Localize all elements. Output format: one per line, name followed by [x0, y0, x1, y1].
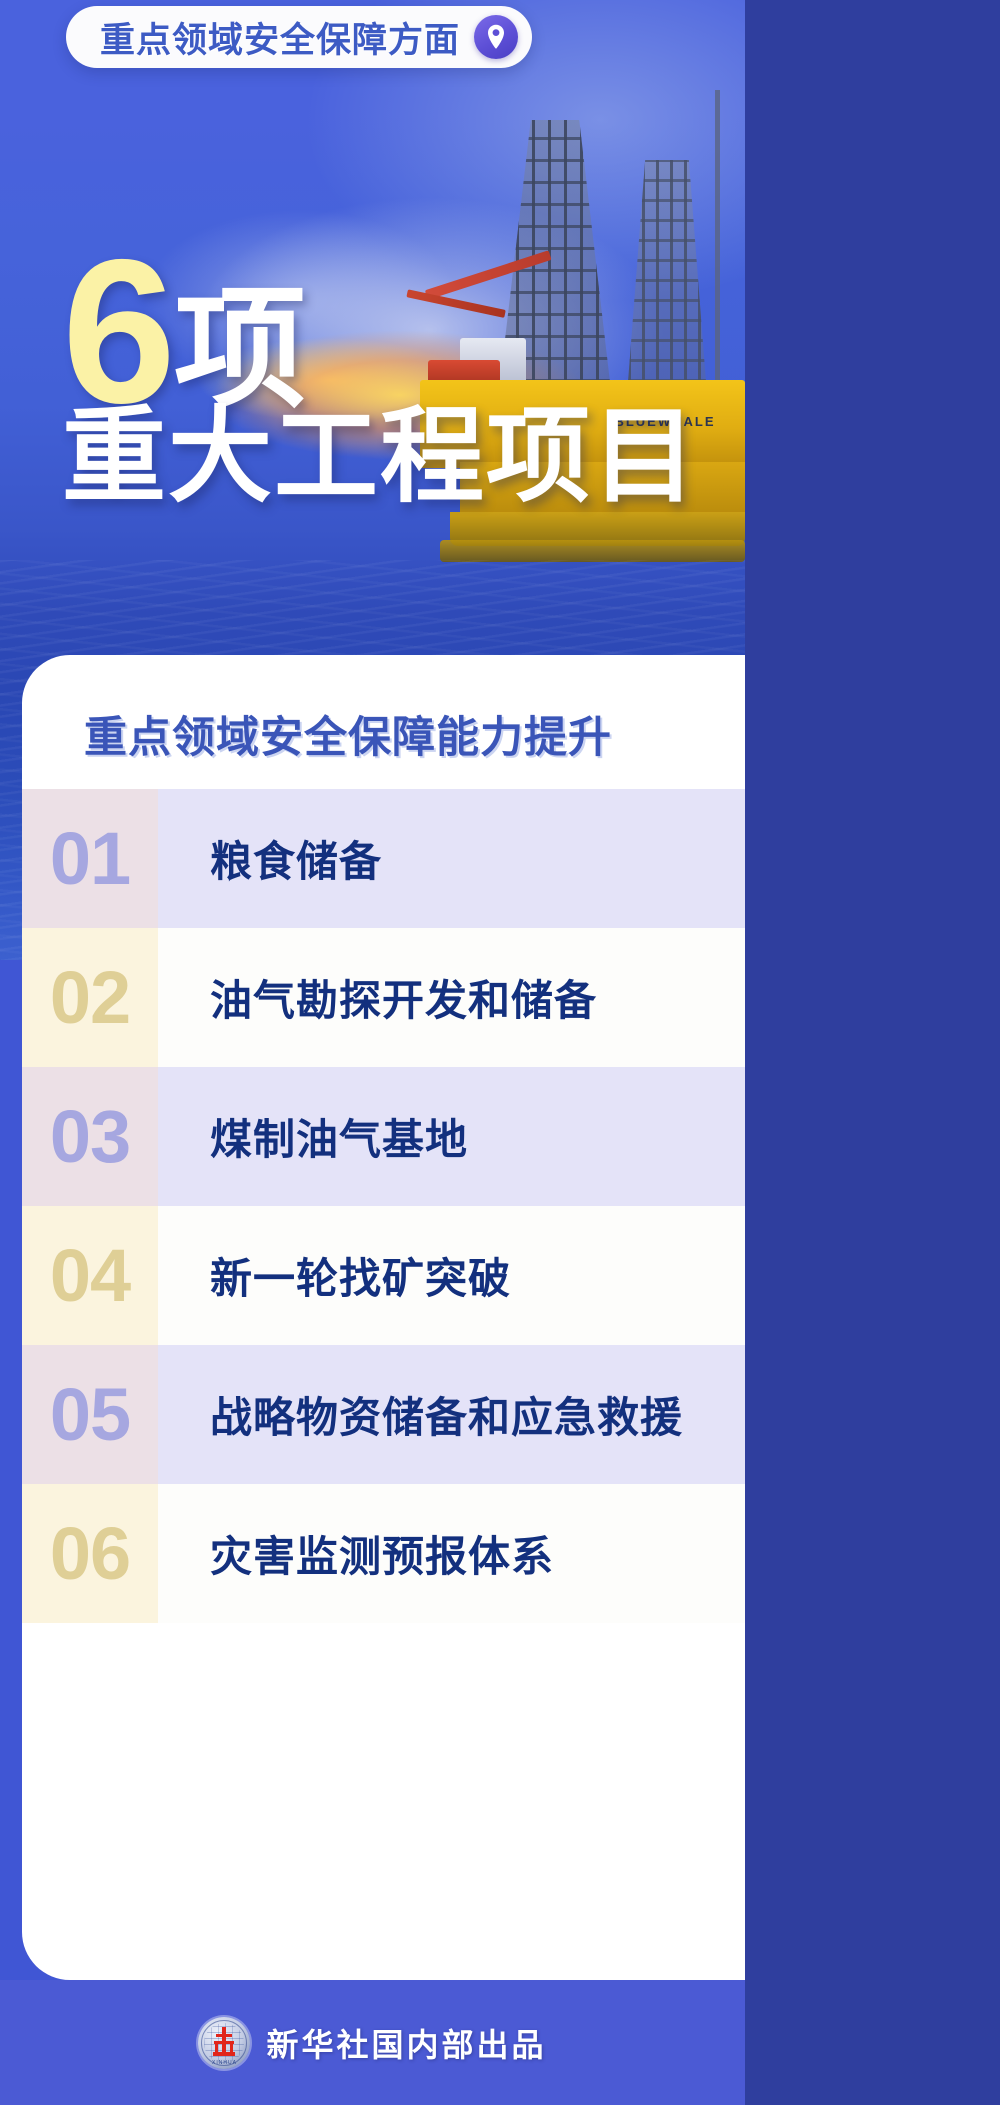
list-item-label: 新一轮找矿突破	[158, 1206, 745, 1345]
list-item-number: 04	[22, 1206, 158, 1345]
list-item-number: 05	[22, 1345, 158, 1484]
list-item[interactable]: 03 煤制油气基地	[22, 1067, 745, 1206]
list-item-label: 煤制油气基地	[158, 1067, 745, 1206]
list-item-label: 战略物资储备和应急救援	[158, 1345, 745, 1484]
footer-credit-text: 新华社国内部出品	[266, 2020, 546, 2066]
list-item[interactable]: 01 粮食储备	[22, 789, 745, 928]
xinhua-agency-logo-icon: XINHUA	[198, 2017, 250, 2069]
content-card: 重点领域安全保障能力提升 01 粮食储备 02 油气勘探开发和储备 03 煤制油…	[22, 655, 745, 1980]
list-item-number: 03	[22, 1067, 158, 1206]
header-pill[interactable]: 重点领域安全保障方面	[66, 6, 532, 68]
mast-icon	[715, 90, 720, 390]
list-item-number: 01	[22, 789, 158, 928]
project-list: 01 粮食储备 02 油气勘探开发和储备 03 煤制油气基地 04 新一轮找矿突…	[22, 789, 745, 1623]
header-pill-label: 重点领域安全保障方面	[100, 12, 460, 63]
list-item[interactable]: 02 油气勘探开发和储备	[22, 928, 745, 1067]
location-pin-icon[interactable]	[474, 15, 518, 59]
list-item[interactable]: 04 新一轮找矿突破	[22, 1206, 745, 1345]
infographic-poster: BLUEWHALE 重点领域安全保障方面 6 项 重大工程项目 重点领域安全保障…	[0, 0, 745, 2105]
card-title: 重点领域安全保障能力提升	[84, 703, 745, 765]
secondary-derrick-icon	[628, 160, 706, 382]
logo-arc-text: XINHUA	[198, 2060, 250, 2066]
rig-pontoon	[440, 540, 745, 562]
footer-bar: XINHUA 新华社国内部出品	[0, 1980, 745, 2105]
list-item-number: 06	[22, 1484, 158, 1623]
list-item-number: 02	[22, 928, 158, 1067]
list-item[interactable]: 05 战略物资储备和应急救援	[22, 1345, 745, 1484]
hero-headline-text: 重大工程项目	[62, 405, 698, 509]
list-item-label: 油气勘探开发和储备	[158, 928, 745, 1067]
list-item-label: 灾害监测预报体系	[158, 1484, 745, 1623]
list-item-label: 粮食储备	[158, 789, 745, 928]
hero-count-unit: 项	[174, 289, 306, 410]
list-item[interactable]: 06 灾害监测预报体系	[22, 1484, 745, 1623]
logo-pagoda-mark	[213, 2027, 235, 2057]
crane-arm-secondary-icon	[406, 289, 505, 318]
